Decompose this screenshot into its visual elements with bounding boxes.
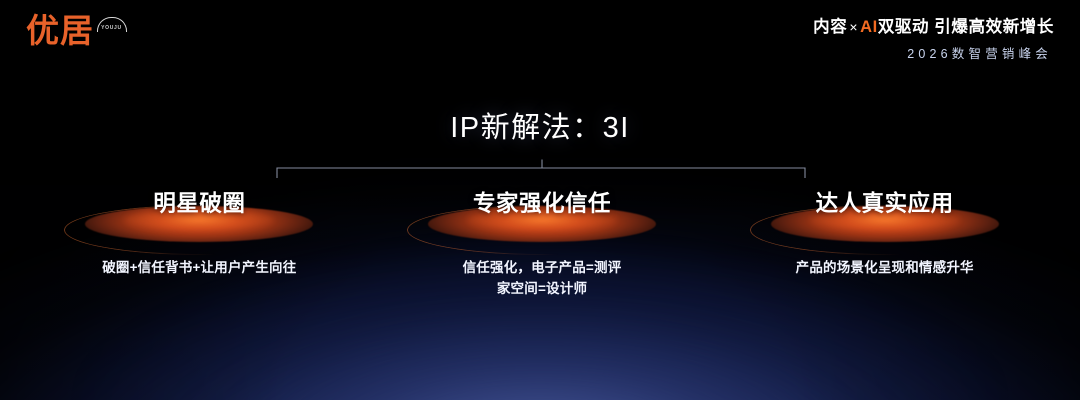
column-heading: 达人真实应用	[713, 186, 1056, 218]
column-heading: 专家强化信任	[371, 186, 714, 218]
event-slogan: 内容×AI双驱动 引爆高效新增长	[813, 18, 1054, 36]
brand-logo-latin: YOUJU	[98, 25, 125, 31]
column-expert-trust: 专家强化信任 信任强化，电子产品=测评 家空间=设计师	[371, 186, 714, 300]
column-description-line: 破圈+信任背书+让用户产生向往	[102, 258, 296, 279]
event-header: 内容×AI双驱动 引爆高效新增长 2026数智营销峰会	[813, 18, 1054, 62]
event-slogan-times: ×	[847, 19, 860, 35]
three-i-columns: 明星破圈 破圈+信任背书+让用户产生向往 专家强化信任 信任强化，电子产品=测评…	[0, 186, 1080, 300]
disc-graphic: 明星破圈	[28, 186, 371, 242]
event-slogan-prefix: 内容	[813, 18, 847, 36]
event-slogan-suffix: 双驱动 引爆高效新增长	[878, 18, 1054, 36]
brand-logo: 优居 YOUJU	[26, 14, 127, 47]
column-description: 产品的场景化呈现和情感升华	[796, 258, 974, 279]
disc-graphic: 达人真实应用	[713, 186, 1056, 242]
brand-logo-arc-icon: YOUJU	[97, 17, 127, 37]
column-description: 破圈+信任背书+让用户产生向往	[102, 258, 296, 279]
presentation-slide: 优居 YOUJU 内容×AI双驱动 引爆高效新增长 2026数智营销峰会 IP新…	[0, 0, 1080, 400]
column-heading: 明星破圈	[28, 186, 371, 218]
bracket-connector	[276, 158, 806, 180]
page-title: IP新解法：3I	[0, 104, 1080, 146]
brand-logo-text: 优居	[26, 14, 94, 47]
event-slogan-accent: AI	[860, 18, 878, 36]
column-description: 信任强化，电子产品=测评 家空间=设计师	[463, 258, 622, 300]
event-subtitle: 2026数智营销峰会	[813, 43, 1054, 62]
column-influencer-application: 达人真实应用 产品的场景化呈现和情感升华	[713, 186, 1056, 300]
column-description-line: 家空间=设计师	[463, 279, 622, 300]
disc-graphic: 专家强化信任	[371, 186, 714, 242]
column-star-breakthrough: 明星破圈 破圈+信任背书+让用户产生向往	[28, 186, 371, 300]
column-description-line: 信任强化，电子产品=测评	[463, 258, 622, 279]
column-description-line: 产品的场景化呈现和情感升华	[796, 258, 974, 279]
